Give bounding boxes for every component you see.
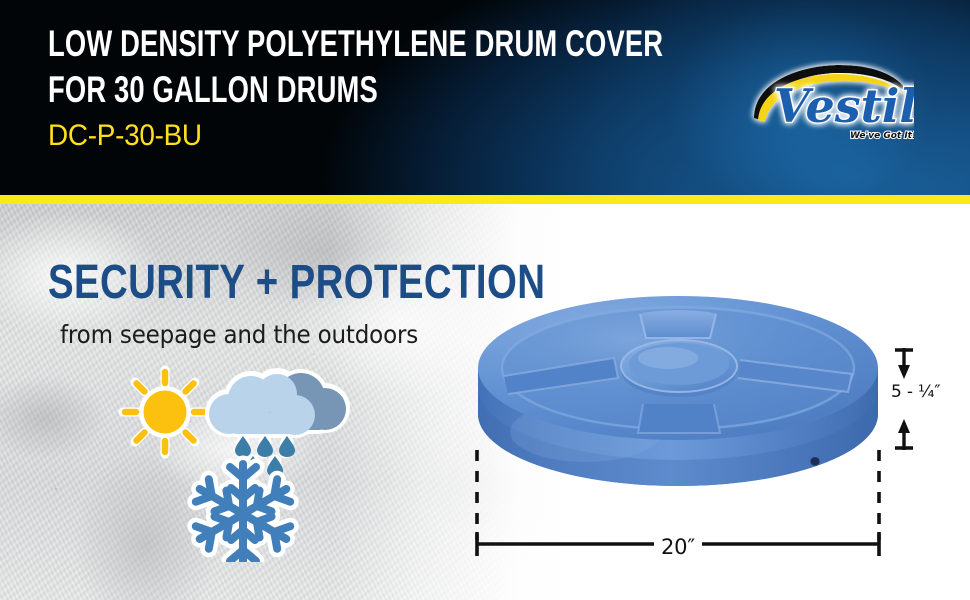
height-arrowhead-up	[898, 365, 910, 379]
title-block: LOW DENSITY POLYETHYLENE DRUM COVER FOR …	[48, 21, 748, 154]
height-dimension-label: 5 - ¼″	[891, 382, 967, 402]
product-title-line-2: FOR 30 GALLON DRUMS	[48, 67, 566, 113]
logo-wordmark-group: Vestil	[774, 79, 914, 133]
banner-header: LOW DENSITY POLYETHYLENE DRUM COVER FOR …	[0, 0, 970, 195]
subheadline: from seepage and the outdoors	[60, 320, 418, 350]
height-arrowhead-down	[898, 419, 910, 433]
drum-cover-center-knob	[621, 340, 737, 397]
weather-icon-group	[115, 362, 365, 562]
logo-tagline: We've Got It!	[850, 131, 914, 141]
accent-rule	[0, 195, 970, 204]
width-dimension-value: 20″	[654, 535, 702, 559]
sun-disc	[144, 391, 187, 434]
model-number: DC-P-30-BU	[48, 118, 699, 154]
sun-icon	[123, 370, 207, 454]
width-dimension-label: 20″	[472, 535, 884, 559]
product-title-line-1: LOW DENSITY POLYETHYLENE DRUM COVER	[48, 21, 566, 67]
snowflake-icon	[193, 464, 293, 562]
logo-wordmark-text: Vestil	[774, 79, 914, 133]
vestil-logo: Vestil We've Got It!	[744, 60, 914, 148]
product-banner: LOW DENSITY POLYETHYLENE DRUM COVER FOR …	[0, 0, 970, 600]
height-dimension	[890, 345, 968, 460]
